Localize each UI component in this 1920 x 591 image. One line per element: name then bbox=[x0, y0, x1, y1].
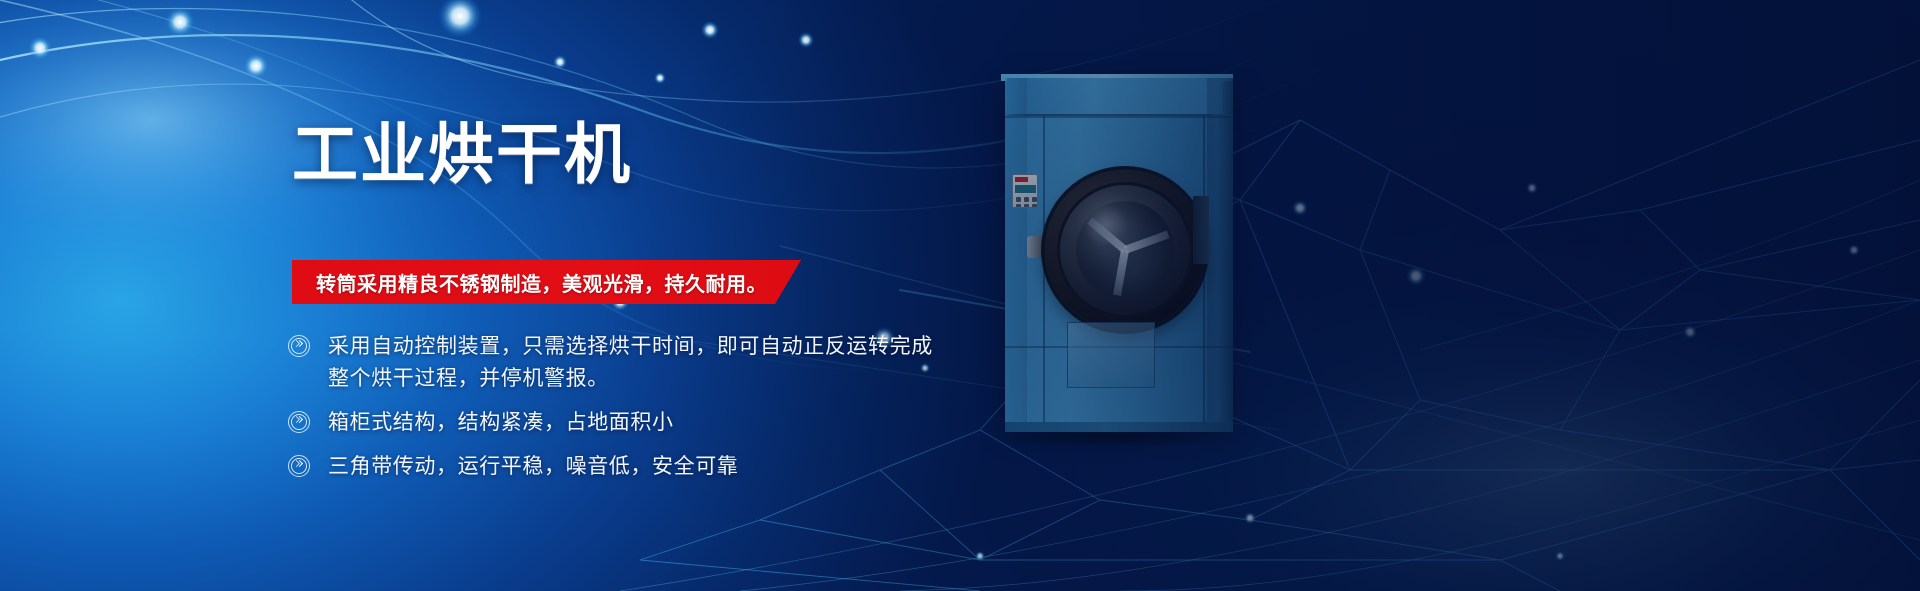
background-network-decoration bbox=[0, 0, 1920, 591]
feature-line-2: 整个烘干过程，并停机警报。 bbox=[328, 362, 933, 394]
panel-button[interactable] bbox=[1016, 204, 1021, 208]
chevron-circle-icon bbox=[288, 411, 310, 433]
door-ring bbox=[1057, 182, 1193, 318]
feature-line-1: 采用自动控制装置，只需选择烘干时间，即可自动正反运转完成 bbox=[328, 334, 933, 358]
list-item: 采用自动控制装置，只需选择烘干时间，即可自动正反运转完成 整个烘干过程，并停机警… bbox=[288, 330, 988, 394]
machine-base bbox=[1005, 422, 1233, 432]
banner-text-block: 工业烘干机 bbox=[292, 120, 992, 189]
door-glass bbox=[1076, 201, 1174, 299]
machine-seam bbox=[1203, 116, 1205, 426]
panel-button[interactable] bbox=[1024, 197, 1029, 202]
panel-button[interactable] bbox=[1032, 204, 1037, 208]
industrial-dryer-machine bbox=[1005, 78, 1233, 426]
feature-text: 箱柜式结构，结构紧凑，占地面积小 bbox=[328, 406, 674, 438]
drum-vane bbox=[1113, 249, 1129, 296]
list-item: 三角带传动，运行平稳，噪音低，安全可靠 bbox=[288, 450, 988, 482]
machine-lower-hatch[interactable] bbox=[1067, 322, 1155, 388]
machine-drum-door[interactable] bbox=[1045, 170, 1205, 330]
vignette-overlay bbox=[0, 0, 1920, 591]
chevron-circle-icon bbox=[288, 335, 310, 357]
page-title: 工业烘干机 bbox=[292, 120, 992, 189]
machine-left-column bbox=[1005, 78, 1027, 426]
panel-button[interactable] bbox=[1032, 197, 1037, 202]
panel-indicator-strip bbox=[1015, 177, 1028, 182]
panel-button[interactable] bbox=[1016, 197, 1021, 202]
subtitle-ribbon: 转筒采用精良不锈钢制造，美观光滑，持久耐用。 bbox=[292, 260, 801, 304]
drum-vane bbox=[1087, 217, 1127, 253]
machine-seam bbox=[1043, 116, 1045, 426]
subtitle-text: 转筒采用精良不锈钢制造，美观光滑，持久耐用。 bbox=[316, 268, 767, 297]
feature-line-1: 箱柜式结构，结构紧凑，占地面积小 bbox=[328, 410, 674, 434]
drum-vane bbox=[1124, 231, 1170, 254]
machine-door-handle[interactable] bbox=[1027, 236, 1047, 258]
feature-text: 三角带传动，运行平稳，噪音低，安全可靠 bbox=[328, 450, 738, 482]
hero-banner: 工业烘干机 转筒采用精良不锈钢制造，美观光滑，持久耐用。 采用自动控制装置，只需… bbox=[0, 0, 1920, 591]
feature-text: 采用自动控制装置，只需选择烘干时间，即可自动正反运转完成 整个烘干过程，并停机警… bbox=[328, 330, 933, 394]
feature-line-1: 三角带传动，运行平稳，噪音低，安全可靠 bbox=[328, 454, 738, 478]
machine-control-panel[interactable] bbox=[1012, 174, 1038, 208]
panel-button[interactable] bbox=[1024, 204, 1029, 208]
chevron-circle-icon bbox=[288, 455, 310, 477]
list-item: 箱柜式结构，结构紧凑，占地面积小 bbox=[288, 406, 988, 438]
feature-list: 采用自动控制装置，只需选择烘干时间，即可自动正反运转完成 整个烘干过程，并停机警… bbox=[288, 330, 988, 494]
machine-right-column bbox=[1207, 78, 1233, 426]
machine-door-hinge bbox=[1193, 196, 1209, 264]
machine-seam bbox=[1005, 116, 1233, 118]
machine-top-hood bbox=[1007, 78, 1223, 116]
panel-display bbox=[1015, 185, 1036, 193]
